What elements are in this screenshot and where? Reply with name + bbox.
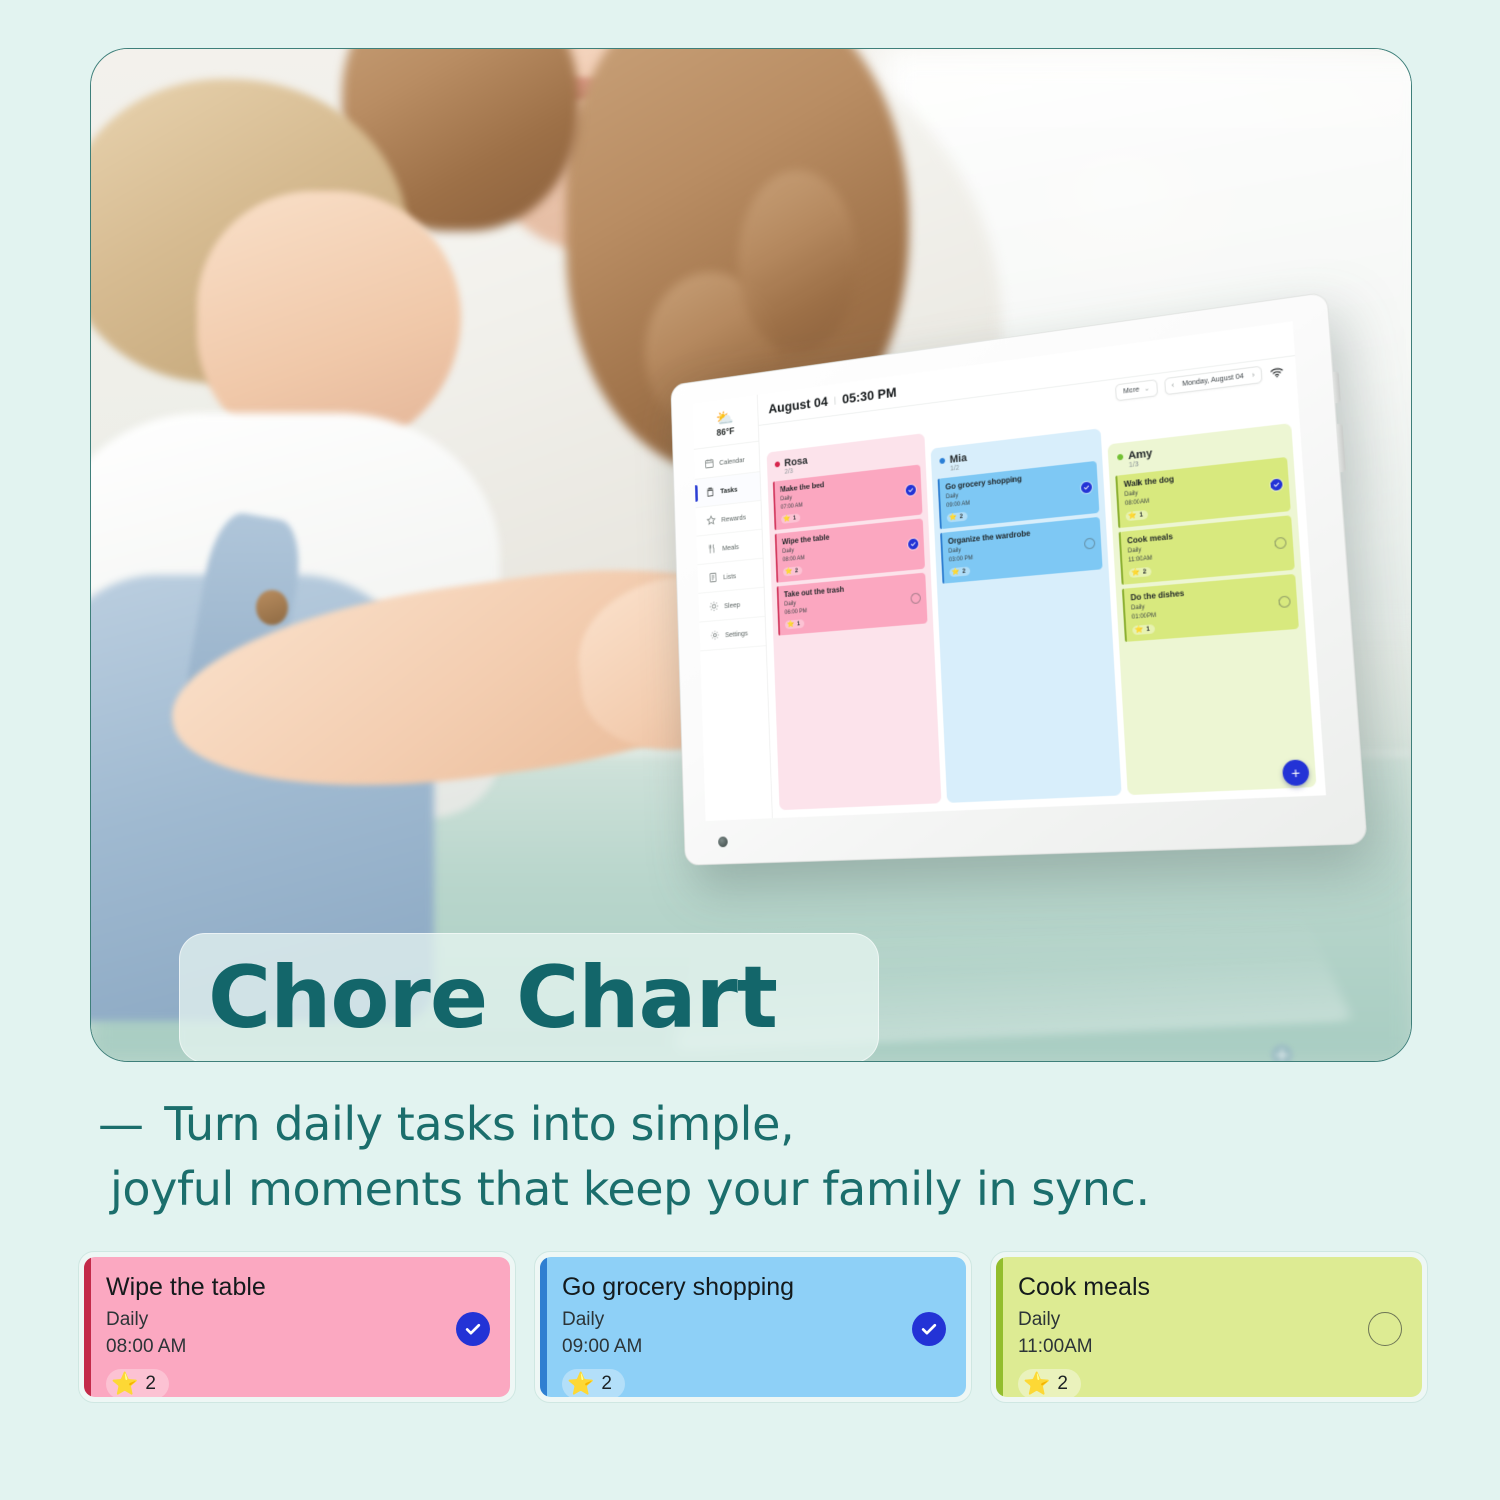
feature-card-body: Go grocery shopping Daily 09:00 AM ⭐ 2: [562, 1273, 898, 1385]
chevron-down-icon: ⌄: [1144, 385, 1149, 393]
feature-card-go-grocery-shopping[interactable]: Go grocery shopping Daily 09:00 AM ⭐ 2: [534, 1251, 972, 1403]
tagline-text-1: Turn daily tasks into simple,: [164, 1097, 794, 1151]
task-star-chip: ⭐ 2: [1129, 567, 1152, 578]
member-dot-icon: [775, 461, 780, 467]
star-icon: ⭐: [1128, 512, 1137, 520]
feature-card-inner: Go grocery shopping Daily 09:00 AM ⭐ 2: [540, 1257, 966, 1397]
sidebar-label-lists: Lists: [723, 571, 736, 581]
feature-card-time: 11:00AM: [1018, 1334, 1354, 1361]
topbar-separator: |: [834, 395, 836, 405]
sun-behind-cloud-icon: ⛅: [716, 409, 734, 427]
task-checkbox-todo[interactable]: [910, 593, 921, 605]
task-checkbox-done[interactable]: [908, 538, 919, 550]
weather-temperature: 86°F: [716, 426, 734, 438]
star-icon: ⭐: [787, 621, 795, 628]
feature-card-time: 08:00 AM: [106, 1334, 442, 1361]
feature-card-star-chip: ⭐ 2: [562, 1369, 625, 1397]
feature-card-row: Wipe the table Daily 08:00 AM ⭐ 2 Go gro…: [78, 1251, 1428, 1403]
column-rosa: Rosa 2/3 Make the bed Daily 07:00 AM: [767, 433, 942, 810]
task-checkbox-todo[interactable]: [1274, 537, 1287, 550]
task-star-chip: ⭐ 2: [783, 566, 803, 576]
more-dropdown[interactable]: More ⌄: [1115, 379, 1158, 401]
feature-card-wipe-the-table[interactable]: Wipe the table Daily 08:00 AM ⭐ 2: [78, 1251, 516, 1403]
current-date-label: Monday, August 04: [1182, 373, 1244, 388]
member-dot-icon: [939, 458, 945, 464]
task-star-count: 1: [1139, 512, 1143, 518]
tasks-icon: [705, 486, 715, 498]
page-title: Chore Chart: [208, 955, 777, 1041]
star-icon: ⭐: [783, 515, 791, 522]
topbar-time: 05:30 PM: [842, 384, 897, 406]
star-icon: ⭐: [949, 514, 957, 522]
fab-reflection: [1271, 1044, 1293, 1062]
em-dash: —: [98, 1097, 150, 1151]
task-content: Organize the wardrobe Daily 03:00 PM ⭐ 2: [948, 524, 1080, 577]
task-board: Rosa 2/3 Make the bed Daily 07:00 AM: [760, 383, 1326, 818]
lifestyle-photo: ⛅ 86°F Calenda: [91, 49, 1411, 1061]
feature-card-title: Go grocery shopping: [562, 1273, 898, 1302]
task-content: Walk the dog Daily 08:00AM ⭐ 1: [1124, 465, 1266, 521]
next-day-icon[interactable]: ›: [1252, 371, 1255, 378]
task-star-chip: ⭐ 1: [1125, 510, 1148, 521]
prev-day-icon[interactable]: ‹: [1171, 381, 1174, 388]
overall-button: [256, 590, 288, 624]
task-content: Make the bed Daily 07:00 AM ⭐ 1: [780, 472, 901, 524]
task-star-chip: ⭐ 1: [785, 619, 805, 629]
task-star-count: 2: [1143, 569, 1147, 575]
task-content: Cook meals Daily 11:00AM ⭐ 2: [1127, 523, 1270, 578]
feature-card-star-count: 2: [1057, 1373, 1068, 1395]
sidebar-label-meals: Meals: [722, 542, 739, 552]
calendar-icon: [704, 457, 714, 469]
sidebar-item-settings[interactable]: Settings: [699, 617, 765, 652]
tagline: — Turn daily tasks into simple, joyful m…: [98, 1092, 1348, 1223]
feature-card-inner: Cook meals Daily 11:00AM ⭐ 2: [996, 1257, 1422, 1397]
feature-card-repeat: Daily: [106, 1307, 442, 1334]
task-card[interactable]: Wipe the table Daily 08:00 AM ⭐ 2: [775, 518, 925, 582]
task-star-count: 2: [962, 568, 965, 574]
feature-card-star-count: 2: [601, 1373, 612, 1395]
star-icon: ⭐: [567, 1373, 594, 1395]
sidebar-label-sleep: Sleep: [724, 600, 740, 610]
gear-icon: [710, 629, 720, 641]
tablet-screen: ⛅ 86°F Calenda: [692, 321, 1326, 821]
task-card[interactable]: Do the dishes Daily 01:00PM ⭐ 1: [1122, 574, 1299, 642]
star-icon: ⭐: [785, 568, 793, 575]
topbar-date: August 04: [768, 393, 828, 416]
star-icon: [706, 514, 716, 526]
feature-card-checkbox-todo[interactable]: [1368, 1312, 1402, 1346]
task-checkbox-done[interactable]: [1270, 478, 1283, 491]
task-star-count: 2: [795, 568, 798, 574]
star-icon: ⭐: [1131, 569, 1140, 577]
tablet-device: ⛅ 86°F Calenda: [670, 292, 1367, 866]
sidebar-nav: Calendar Tasks: [694, 442, 766, 652]
plus-icon: +: [1291, 765, 1301, 780]
feature-card-star-chip: ⭐ 2: [1018, 1369, 1081, 1397]
wifi-icon[interactable]: [1269, 365, 1285, 378]
tagline-line-1: — Turn daily tasks into simple,: [98, 1092, 1348, 1157]
chore-chart-badge: Chore Chart: [179, 933, 879, 1062]
feature-card-checkbox-done[interactable]: [456, 1312, 490, 1346]
task-content: Do the dishes Daily 01:00PM ⭐ 1: [1130, 581, 1273, 635]
task-checkbox-todo[interactable]: [1278, 596, 1291, 609]
task-card[interactable]: Cook meals Daily 11:00AM ⭐ 2: [1119, 515, 1295, 585]
feature-card-time: 09:00 AM: [562, 1334, 898, 1361]
star-icon: ⭐: [951, 568, 959, 576]
task-card[interactable]: Take out the trash Daily 06:00 PM ⭐ 1: [777, 573, 928, 636]
app-main: August 04 | 05:30 PM More ⌄ ‹: [758, 321, 1326, 818]
task-star-count: 1: [793, 515, 796, 521]
feature-card-repeat: Daily: [1018, 1307, 1354, 1334]
sidebar-label-tasks: Tasks: [720, 484, 737, 494]
meals-icon: [707, 543, 717, 555]
feature-card-title: Wipe the table: [106, 1273, 442, 1302]
task-checkbox-done[interactable]: [1081, 481, 1092, 493]
column-amy: Amy 1/3 Walk the dog Daily 08:00AM: [1107, 423, 1316, 795]
task-content: Take out the trash Daily 06:00 PM ⭐ 1: [784, 579, 906, 629]
sidebar-label-settings: Settings: [725, 628, 748, 638]
tagline-line-2: joyful moments that keep your family in …: [98, 1157, 1348, 1222]
task-star-chip: ⭐ 2: [947, 512, 968, 523]
member-dot-icon: [1117, 454, 1123, 461]
star-icon: ⭐: [1023, 1373, 1050, 1395]
feature-card-inner: Wipe the table Daily 08:00 AM ⭐ 2: [84, 1257, 510, 1397]
star-icon: ⭐: [111, 1373, 138, 1395]
column-mia: Mia 1/2 Go grocery shopping Daily 09:00 …: [931, 428, 1122, 803]
feature-card-body: Wipe the table Daily 08:00 AM ⭐ 2: [106, 1273, 442, 1385]
star-icon: ⭐: [1134, 626, 1143, 634]
page-root: ⛅ 86°F Calenda: [0, 0, 1500, 1500]
task-card[interactable]: Organize the wardrobe Daily 03:00 PM ⭐ 2: [940, 517, 1102, 584]
more-label: More: [1123, 386, 1139, 395]
task-star-count: 1: [1146, 626, 1150, 632]
sidebar-label-calendar: Calendar: [719, 455, 745, 466]
list-icon: [708, 571, 718, 583]
feature-card-title: Cook meals: [1018, 1273, 1354, 1302]
task-star-chip: ⭐ 1: [781, 513, 800, 524]
task-checkbox-todo[interactable]: [1084, 538, 1096, 550]
feature-card-checkbox-done[interactable]: [912, 1312, 946, 1346]
feature-card-body: Cook meals Daily 11:00AM ⭐ 2: [1018, 1273, 1354, 1385]
brightness-icon: [709, 600, 719, 612]
chore-chart-app: ⛅ 86°F Calenda: [692, 321, 1326, 821]
feature-card-repeat: Daily: [562, 1307, 898, 1334]
task-star-chip: ⭐ 2: [949, 566, 970, 577]
feature-card-star-chip: ⭐ 2: [106, 1369, 169, 1397]
task-content: Wipe the table Daily 08:00 AM ⭐ 2: [782, 525, 904, 576]
task-star-count: 2: [960, 514, 963, 520]
task-star-count: 1: [797, 621, 800, 627]
task-checkbox-done[interactable]: [906, 484, 917, 496]
sidebar-label-rewards: Rewards: [721, 512, 746, 523]
hero-photo-panel: ⛅ 86°F Calenda: [90, 48, 1412, 1062]
task-content: Go grocery shopping Daily 09:00 AM ⭐ 2: [945, 468, 1076, 522]
feature-card-cook-meals[interactable]: Cook meals Daily 11:00AM ⭐ 2: [990, 1251, 1428, 1403]
task-star-chip: ⭐ 1: [1132, 624, 1155, 635]
woman-hair-curl-2: [738, 170, 857, 352]
feature-card-star-count: 2: [145, 1373, 156, 1395]
